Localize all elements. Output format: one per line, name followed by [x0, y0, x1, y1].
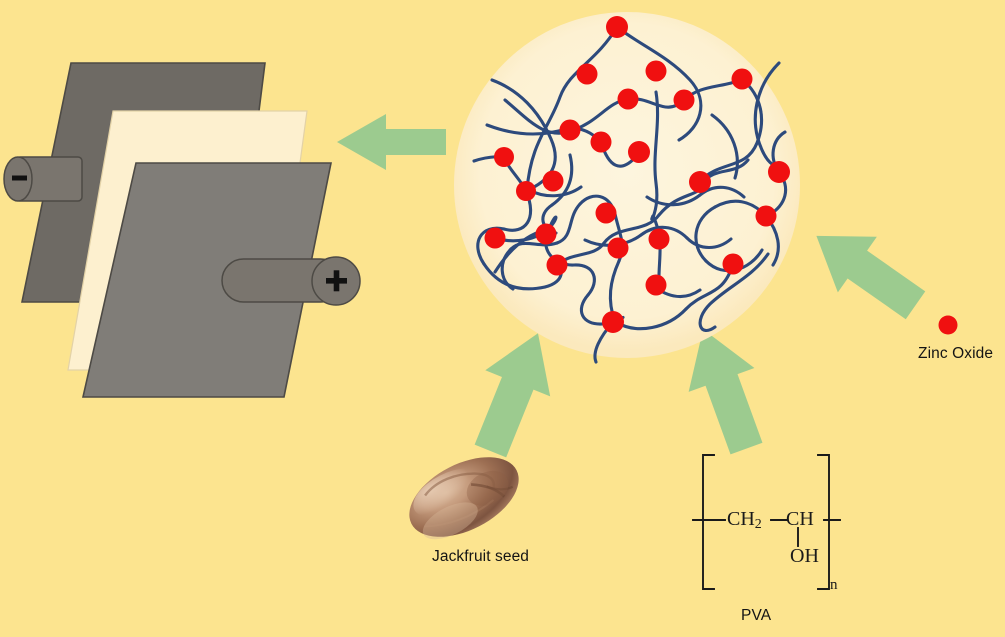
composite-electrolyte-circle	[454, 12, 800, 362]
jackfruit-seed-image	[396, 441, 531, 553]
pva-left-bracket	[703, 455, 714, 589]
schematic-illustration	[0, 0, 1005, 637]
zinc-oxide-label: Zinc Oxide	[918, 345, 993, 363]
negative-terminal	[4, 157, 82, 201]
figure-canvas: CH2 CH OH n Jackfruit seed PVA Zinc Oxid…	[0, 0, 1005, 637]
pva-label: PVA	[741, 607, 771, 625]
minus-sign	[12, 176, 27, 181]
positive-terminal	[222, 257, 360, 305]
pva-structure	[693, 455, 840, 589]
plus-sign-vertical	[334, 270, 340, 291]
battery-assembly	[4, 63, 360, 397]
pva-ch-group: CH	[786, 508, 814, 531]
arrow-jackfruit-to-composite	[458, 320, 570, 464]
arrow-zinc-oxide-to-composite	[797, 208, 935, 333]
arrow-composite-to-battery	[337, 114, 446, 170]
pva-oh-group: OH	[790, 545, 819, 568]
pva-ch2-subscript: 2	[755, 517, 762, 532]
pva-right-bracket	[818, 455, 829, 589]
jackfruit-seed-label: Jackfruit seed	[432, 548, 529, 566]
zinc-oxide-legend-dot	[936, 313, 960, 337]
pva-repeat-subscript: n	[830, 577, 838, 594]
pva-ch2-group: CH2	[727, 508, 762, 533]
